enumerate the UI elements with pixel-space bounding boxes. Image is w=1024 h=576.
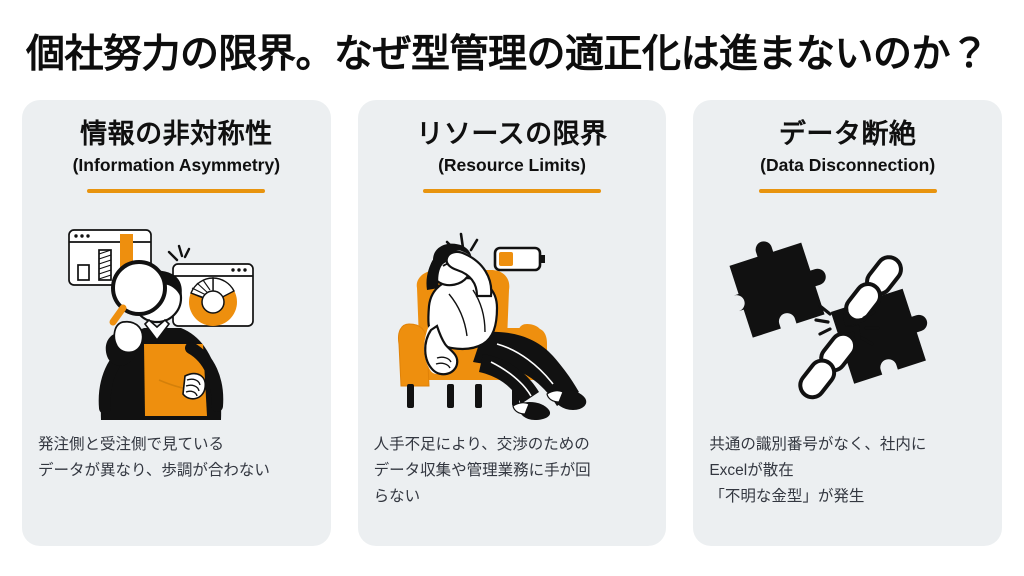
card-header: データ断絶 (Data Disconnection): [693, 100, 1002, 193]
card-title-en: (Resource Limits): [358, 153, 667, 177]
card-title-ja: データ断絶: [693, 116, 1002, 152]
card-body-text: 共通の識別番号がなく、社内に Excelが散在 「不明な金型」が発生: [709, 432, 990, 510]
illustration-exhausted-person-in-armchair: [358, 212, 667, 427]
card-title-en: (Information Asymmetry): [22, 153, 331, 177]
accent-underline: [423, 189, 601, 193]
card-title-ja: 情報の非対称性: [22, 116, 331, 152]
page-title: 個社努力の限界。なぜ型管理の適正化は進まないのか？: [26, 30, 989, 80]
accent-underline: [759, 189, 937, 193]
card-information-asymmetry[interactable]: 情報の非対称性 (Information Asymmetry): [22, 100, 331, 546]
card-header: 情報の非対称性 (Information Asymmetry): [22, 100, 331, 193]
magnifier-charts-figure-icon: [41, 220, 311, 420]
card-body-text: 人手不足により、交渉のための データ収集や管理業務に手が回 らない: [374, 432, 655, 510]
card-header: リソースの限界 (Resource Limits): [358, 100, 667, 193]
card-title-en: (Data Disconnection): [693, 153, 1002, 177]
illustration-person-with-magnifier-and-charts: [22, 212, 331, 427]
card-data-disconnection[interactable]: データ断絶 (Data Disconnection): [693, 100, 1002, 546]
card-body-text: 発注側と受注側で見ている データが異なり、歩調が合わない: [38, 432, 319, 484]
tired-person-armchair-battery-icon: [387, 220, 637, 420]
illustration-broken-chain-puzzle: [693, 212, 1002, 427]
card-resource-limits[interactable]: リソースの限界 (Resource Limits): [358, 100, 667, 546]
accent-underline: [87, 189, 265, 193]
card-title-ja: リソースの限界: [358, 116, 667, 152]
puzzle-pieces-broken-chain-icon: [728, 234, 968, 406]
card-row: 情報の非対称性 (Information Asymmetry): [22, 100, 1002, 546]
